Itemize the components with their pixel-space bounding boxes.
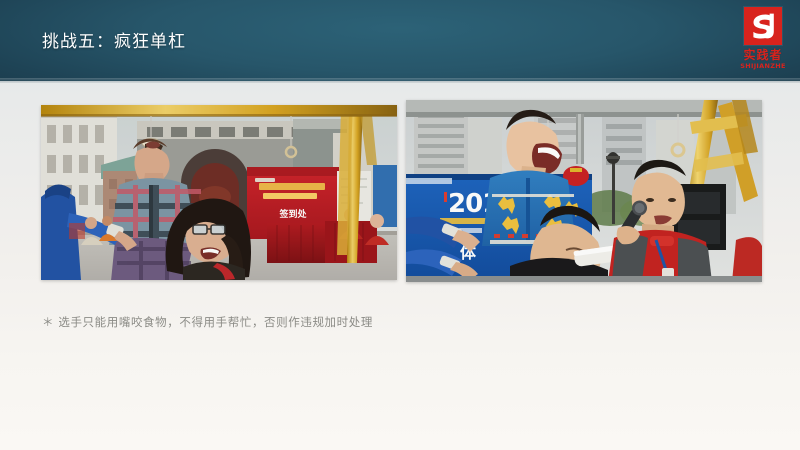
- page-title: 挑战五：疯狂单杠: [42, 31, 186, 53]
- header-divider-line: [0, 81, 800, 83]
- brand-logo: 实践者 SHIJIANZHE: [732, 6, 794, 80]
- photo-right: 2014 体: [406, 100, 762, 282]
- footnote-text: ＊ 选手只能用嘴咬食物，不得用手帮忙，否则作违规加时处理: [42, 313, 373, 331]
- presentation-slide: 挑战五：疯狂单杠 实践者 SHIJIANZHE: [0, 0, 800, 450]
- logo-sj-monogram-icon: [744, 7, 782, 45]
- logo-pinyin-name: SHIJIANZHE: [732, 62, 794, 70]
- logo-chinese-name: 实践者: [732, 48, 794, 62]
- photo-left: 签到处: [41, 105, 397, 280]
